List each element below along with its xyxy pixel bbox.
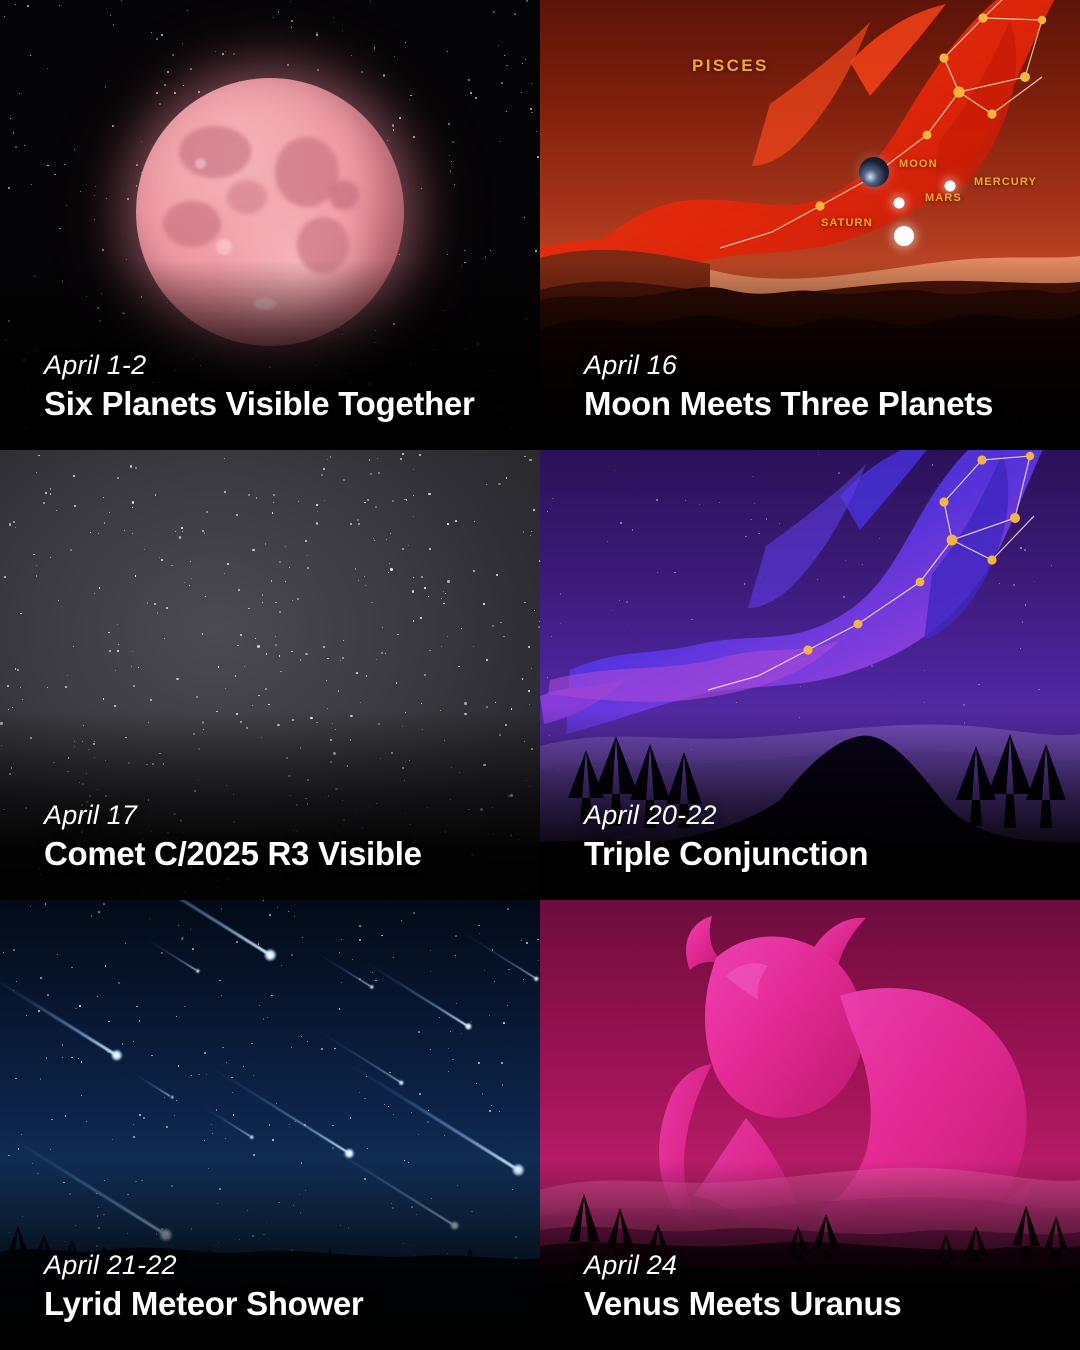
caption-venus-uranus: April 24 Venus Meets Uranus [584,1250,901,1324]
event-date: April 1-2 [44,350,475,381]
event-title: Six Planets Visible Together [44,384,475,424]
sky-label-moon: MOON [899,158,938,170]
pisces-fish-art [540,450,1056,734]
panel-lyrid-meteor-shower[interactable]: April 21-22 Lyrid Meteor Shower [0,900,540,1350]
constellation-label-pisces: PISCES [692,56,769,76]
event-title: Moon Meets Three Planets [584,384,993,424]
event-date: April 17 [44,800,422,831]
event-date: April 24 [584,1250,901,1281]
panel-venus-meets-uranus[interactable]: TAURUS ALDEBARAN PLEIADES VENUS URANUS A… [540,900,1080,1350]
sky-label-saturn: SATURN [821,217,873,229]
caption-triple-conjunction: April 20-22 Triple Conjunction [584,800,868,874]
pink-moon-icon [136,78,404,346]
sky-label-mars: MARS [925,192,962,204]
mars-marker [894,198,905,209]
moon-icon [859,157,889,187]
sky-label-mercury: MERCURY [974,176,1037,188]
event-title: Venus Meets Uranus [584,1284,901,1324]
caption-lyrid: April 21-22 Lyrid Meteor Shower [44,1250,363,1324]
caption-comet: April 17 Comet C/2025 R3 Visible [44,800,422,874]
panel-six-planets[interactable]: April 1-2 Six Planets Visible Together [0,0,540,450]
event-date: April 21-22 [44,1250,363,1281]
mercury-marker [945,181,956,192]
caption-six-planets: April 1-2 Six Planets Visible Together [44,350,475,424]
saturn-marker [894,226,914,246]
event-date: April 20-22 [584,800,868,831]
event-title: Lyrid Meteor Shower [44,1284,363,1324]
event-panel-grid: April 1-2 Six Planets Visible Together [0,0,1080,1350]
panel-comet-c2025-r3[interactable]: April 17 Comet C/2025 R3 Visible [0,450,540,900]
panel-moon-meets-three-planets[interactable]: PISCES MOON MERCURY MARS SATURN April 16… [540,0,1080,450]
event-title: Comet C/2025 R3 Visible [44,834,422,874]
event-title: Triple Conjunction [584,834,868,874]
event-date: April 16 [584,350,993,381]
caption-moon-meets-three-planets: April 16 Moon Meets Three Planets [584,350,993,424]
panel-triple-conjunction[interactable]: PISCES MARS SATURN MERCURY April 20-22 T… [540,450,1080,900]
